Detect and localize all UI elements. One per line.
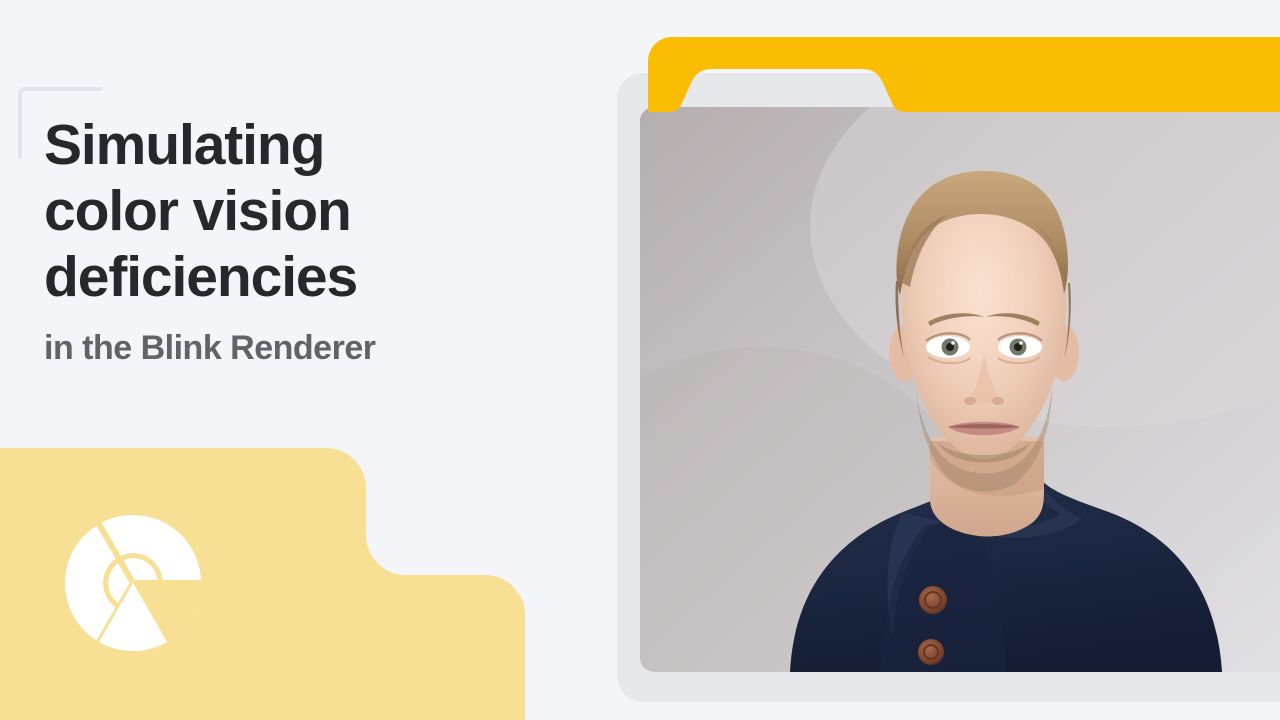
title-line-3: deficiencies	[44, 244, 604, 310]
page-title: Simulating color vision deficiencies in …	[44, 112, 604, 368]
video-thumbnail-card[interactable]	[617, 37, 1280, 702]
page-subtitle: in the Blink Renderer	[44, 328, 604, 368]
chrome-logo-icon	[62, 512, 204, 654]
folder-tab-bar	[648, 37, 1280, 149]
title-line-1: Simulating	[44, 112, 604, 178]
title-line-2: color vision	[44, 178, 604, 244]
card-clip	[617, 37, 1280, 702]
video-thumbnail-image[interactable]	[640, 107, 1280, 672]
slide-canvas: Simulating color vision deficiencies in …	[0, 0, 1280, 720]
